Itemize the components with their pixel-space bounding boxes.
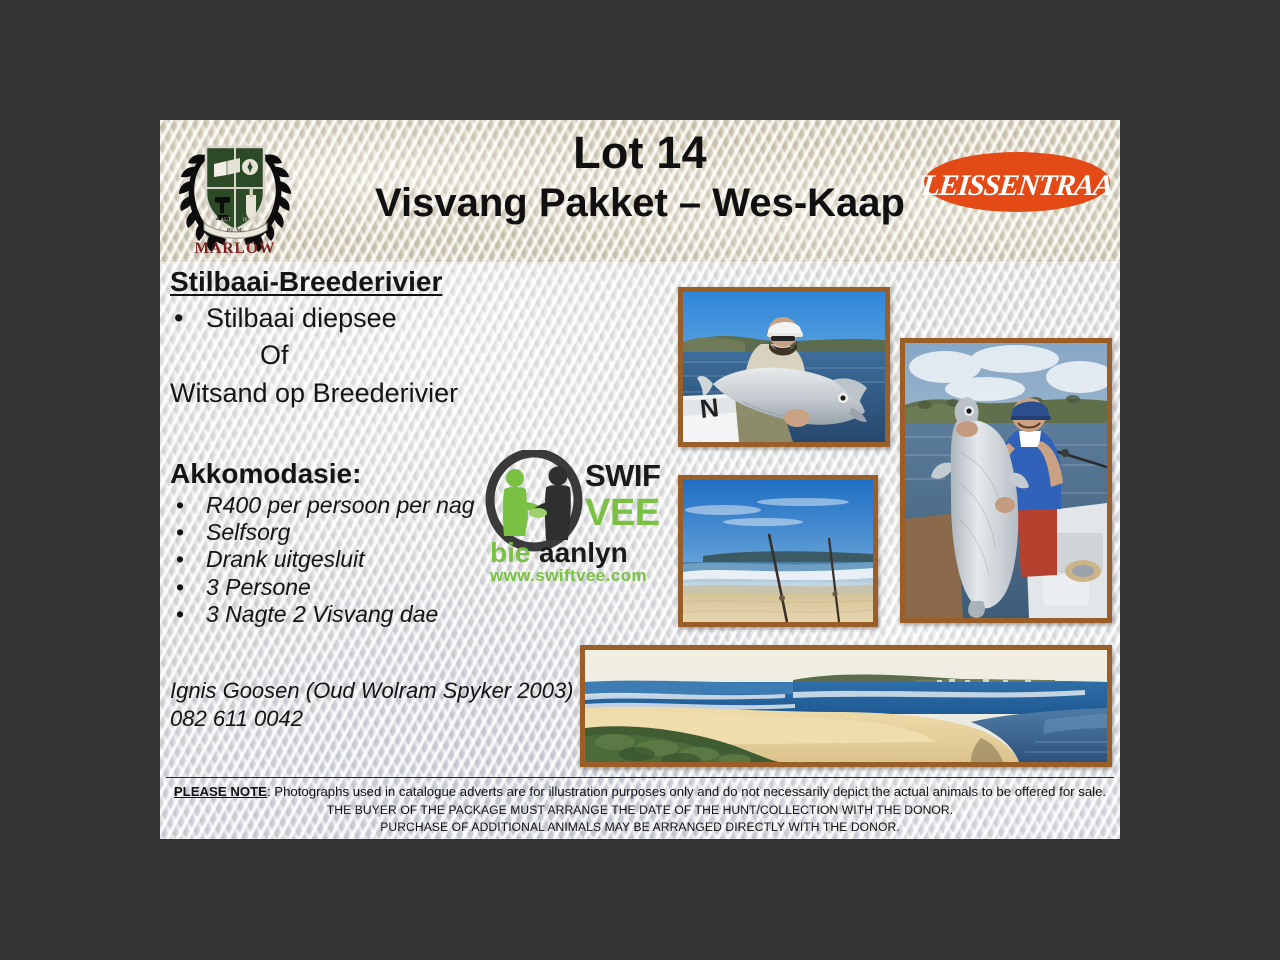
photo-beach-rods <box>678 475 878 627</box>
photo-lagoon-image <box>585 650 1107 762</box>
bullet-icon: • <box>176 492 206 519</box>
photo-angler-boat-image: N <box>683 292 885 442</box>
accommodation-item-nights: 3 Nagte 2 Visvang dae <box>206 601 438 627</box>
location-option-1-row: •Stilbaai diepsee <box>168 300 688 337</box>
location-conjunction: Of <box>168 337 688 374</box>
bullet-icon: • <box>174 300 206 337</box>
accommodation-item-persons: 3 Persone <box>206 574 311 600</box>
location-option-2: Witsand op Breederivier <box>168 375 688 412</box>
list-item: •3 Nagte 2 Visvang dae <box>168 601 688 628</box>
marlow-logo: P.L.M. DISCE AUT DISCEDE MARLOW <box>174 131 296 257</box>
swiftvee-handshake-icon: SWIFT VEE bie aanlyn www.swiftvee.com <box>482 450 660 586</box>
location-option-1: Stilbaai diepsee <box>206 303 397 333</box>
crest-ribbon-text: P.L.M. <box>227 227 244 234</box>
location-heading: Stilbaai-Breederivier <box>170 266 688 298</box>
marlow-crest-icon: P.L.M. DISCE AUT DISCEDE MARLOW <box>174 131 296 257</box>
screen: P.L.M. DISCE AUT DISCEDE MARLOW VLEISSEN… <box>0 0 1280 960</box>
accommodation-item-selfcatering: Selfsorg <box>206 519 290 545</box>
footer-divider <box>166 777 1114 778</box>
bullet-icon: • <box>176 574 206 601</box>
crest-motto-right: DISCEDE <box>242 218 263 223</box>
svg-text:N: N <box>698 392 720 424</box>
photo-lagoon <box>580 645 1112 767</box>
swiftvee-website: www.swiftvee.com <box>489 566 647 585</box>
page-subtitle: Visvang Pakket – Wes-Kaap <box>360 179 920 227</box>
please-note-label: PLEASE NOTE <box>174 784 267 799</box>
photo-beach-rods-image <box>683 480 873 622</box>
footer-line-3: PURCHASE OF ADDITIONAL ANIMALS MAY BE AR… <box>170 819 1110 837</box>
header-divider <box>160 262 1120 263</box>
swiftvee-word-aanlyn: aanlyn <box>539 537 628 568</box>
footer-line-1-text: : Photographs used in catalogue adverts … <box>267 784 1106 799</box>
vleissentraal-badge-icon: VLEISSENTRAAL <box>922 150 1112 214</box>
swiftvee-logo: SWIFT VEE bie aanlyn www.swiftvee.com <box>482 450 660 586</box>
swiftvee-word-swift: SWIFT <box>585 458 660 493</box>
footer-line-2: THE BUYER OF THE PACKAGE MUST ARRANGE TH… <box>170 802 1110 820</box>
vleissentraal-logo: VLEISSENTRAAL <box>922 150 1112 214</box>
footer-disclaimer: PLEASE NOTE: Photographs used in catalog… <box>170 783 1110 837</box>
photo-angler-kob-image <box>905 343 1107 618</box>
swiftvee-word-bie: bie <box>490 537 530 568</box>
footer-line-1: PLEASE NOTE: Photographs used in catalog… <box>170 783 1110 802</box>
photo-angler-boat: N <box>678 287 890 447</box>
slide-canvas: P.L.M. DISCE AUT DISCEDE MARLOW VLEISSEN… <box>160 120 1120 839</box>
swiftvee-word-vee: VEE <box>585 492 660 534</box>
marlow-wordmark: MARLOW <box>195 240 276 257</box>
bullet-icon: • <box>176 546 206 573</box>
page-title: Lot 14 <box>360 126 920 179</box>
vleissentraal-wordmark: VLEISSENTRAAL <box>922 168 1112 202</box>
accommodation-item-drinks: Drank uitgesluit <box>206 546 365 572</box>
bullet-icon: • <box>176 519 206 546</box>
title-block: Lot 14 Visvang Pakket – Wes-Kaap <box>360 126 920 227</box>
photo-angler-kob <box>900 338 1112 623</box>
accommodation-item-price: R400 per persoon per nag <box>206 492 475 518</box>
bullet-icon: • <box>176 601 206 628</box>
crest-motto-left: DISCE AUT <box>205 218 231 223</box>
